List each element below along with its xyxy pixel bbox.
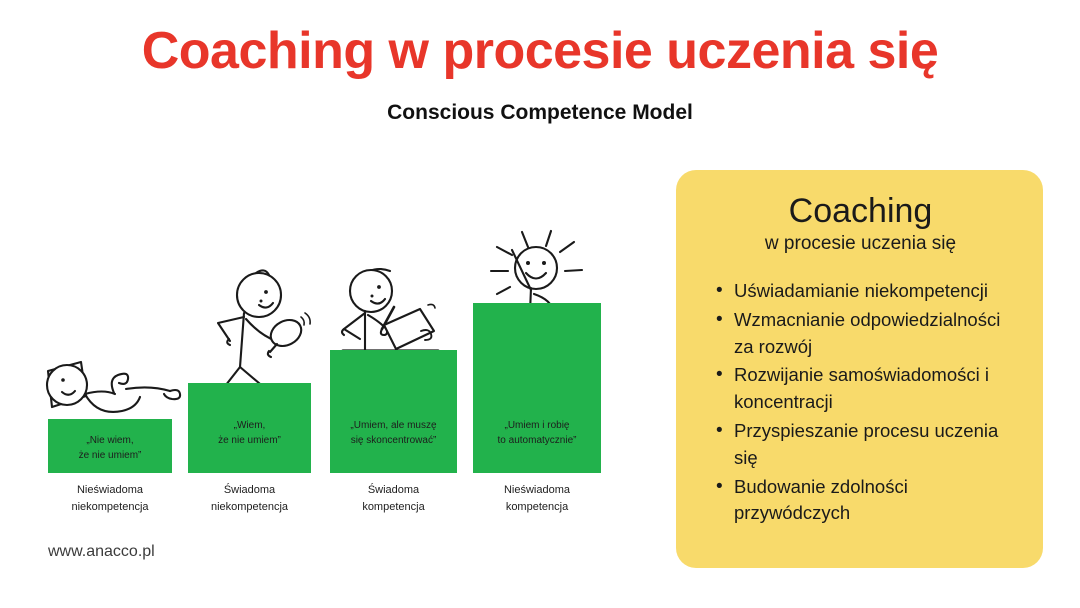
bar-group-3: „Umiem, ale muszę się skoncentrować” Świ… [330, 250, 457, 473]
website-url[interactable]: www.anacco.pl [48, 543, 155, 561]
list-item: Przyspieszanie procesu uczenia się [716, 418, 1023, 472]
list-item: Wzmacnianie odpowiedzialności za rozwój [716, 307, 1023, 361]
bar-2-caption: Świadoma niekompetencja [174, 482, 325, 515]
bar-3 [330, 350, 457, 473]
panel-benefit-list: Uświadamianie niekompetencji Wzmacnianie… [698, 278, 1023, 527]
bar-group-4: „Umiem i robię to automatycznie” Nieświa… [473, 220, 601, 473]
bar-group-2: „Wiem, że nie umiem” Świadoma niekompete… [188, 255, 311, 473]
bar-4 [473, 303, 601, 473]
bar-group-1: „Nie wiem, że nie umiem” Nieświadoma nie… [48, 300, 172, 473]
person-with-magnifier-figure [204, 255, 324, 395]
infographic-page: Coaching w procesie uczenia się Consciou… [0, 0, 1080, 608]
bar-1 [48, 419, 172, 473]
coaching-info-panel: Coaching w procesie uczenia się Uświadam… [676, 170, 1043, 568]
list-item: Uświadamianie niekompetencji [716, 278, 1023, 305]
list-item: Rozwijanie samoświadomości i koncentracj… [716, 362, 1023, 416]
competence-bar-chart: „Nie wiem, że nie umiem” Nieświadoma nie… [0, 0, 660, 608]
person-writing-notes-figure [338, 247, 463, 359]
panel-subtitle: w procesie uczenia się [698, 233, 1023, 256]
person-lying-down-figure [22, 349, 182, 421]
bar-4-caption: Nieświadoma kompetencja [459, 482, 615, 515]
list-item: Budowanie zdolności przywódczych [716, 474, 1023, 528]
bar-2 [188, 383, 311, 473]
bar-3-caption: Świadoma kompetencja [316, 482, 471, 515]
bar-1-caption: Nieświadoma niekompetencja [34, 482, 186, 515]
panel-title: Coaching [698, 192, 1023, 231]
